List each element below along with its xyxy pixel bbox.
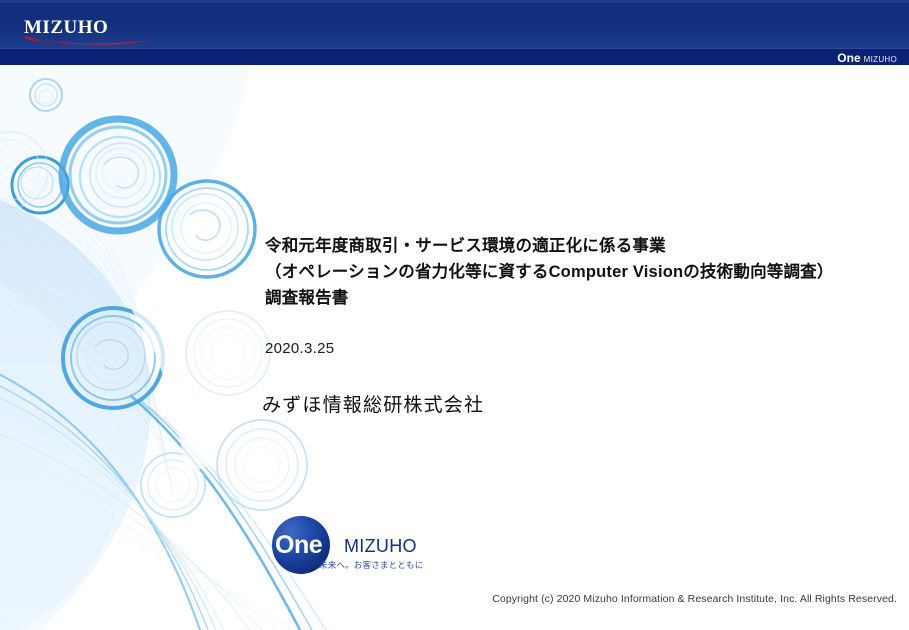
document-date: 2020.3.25 (265, 340, 334, 357)
header-band-lower (0, 48, 909, 65)
title-line-1: 令和元年度商取引・サービス環境の適正化に係る事業 (265, 233, 885, 259)
one-mizuho-center-mizuho-text: MIZUHO (344, 531, 417, 557)
one-mizuho-one-text: One (837, 51, 860, 65)
company-name: みずほ情報総研株式会社 (262, 390, 484, 417)
title-line-3: 調査報告書 (265, 285, 885, 311)
one-mizuho-header-logo: One MIZUHO (837, 51, 897, 65)
mizuho-brand-logo: MIZUHO (24, 9, 184, 49)
title-line-2: （オペレーションの省力化等に資するComputer Visionの技術動向等調査… (265, 259, 885, 285)
one-mizuho-tagline: 未来へ。お客さまとともに (319, 559, 423, 571)
one-mizuho-mizuho-text: MIZUHO (864, 51, 897, 65)
copyright-notice: Copyright (c) 2020 Mizuho Information & … (492, 593, 897, 605)
one-mizuho-center-one-text: One (275, 532, 347, 558)
title-slide: MIZUHO One MIZUHO (0, 0, 909, 630)
header-band-top-edge (0, 0, 909, 3)
mizuho-red-swoosh-icon (22, 34, 154, 48)
one-mizuho-center-logo: One MIZUHO 未来へ。お客さまとともに (272, 516, 437, 578)
page-title: 令和元年度商取引・サービス環境の適正化に係る事業 （オペレーションの省力化等に資… (265, 233, 885, 311)
